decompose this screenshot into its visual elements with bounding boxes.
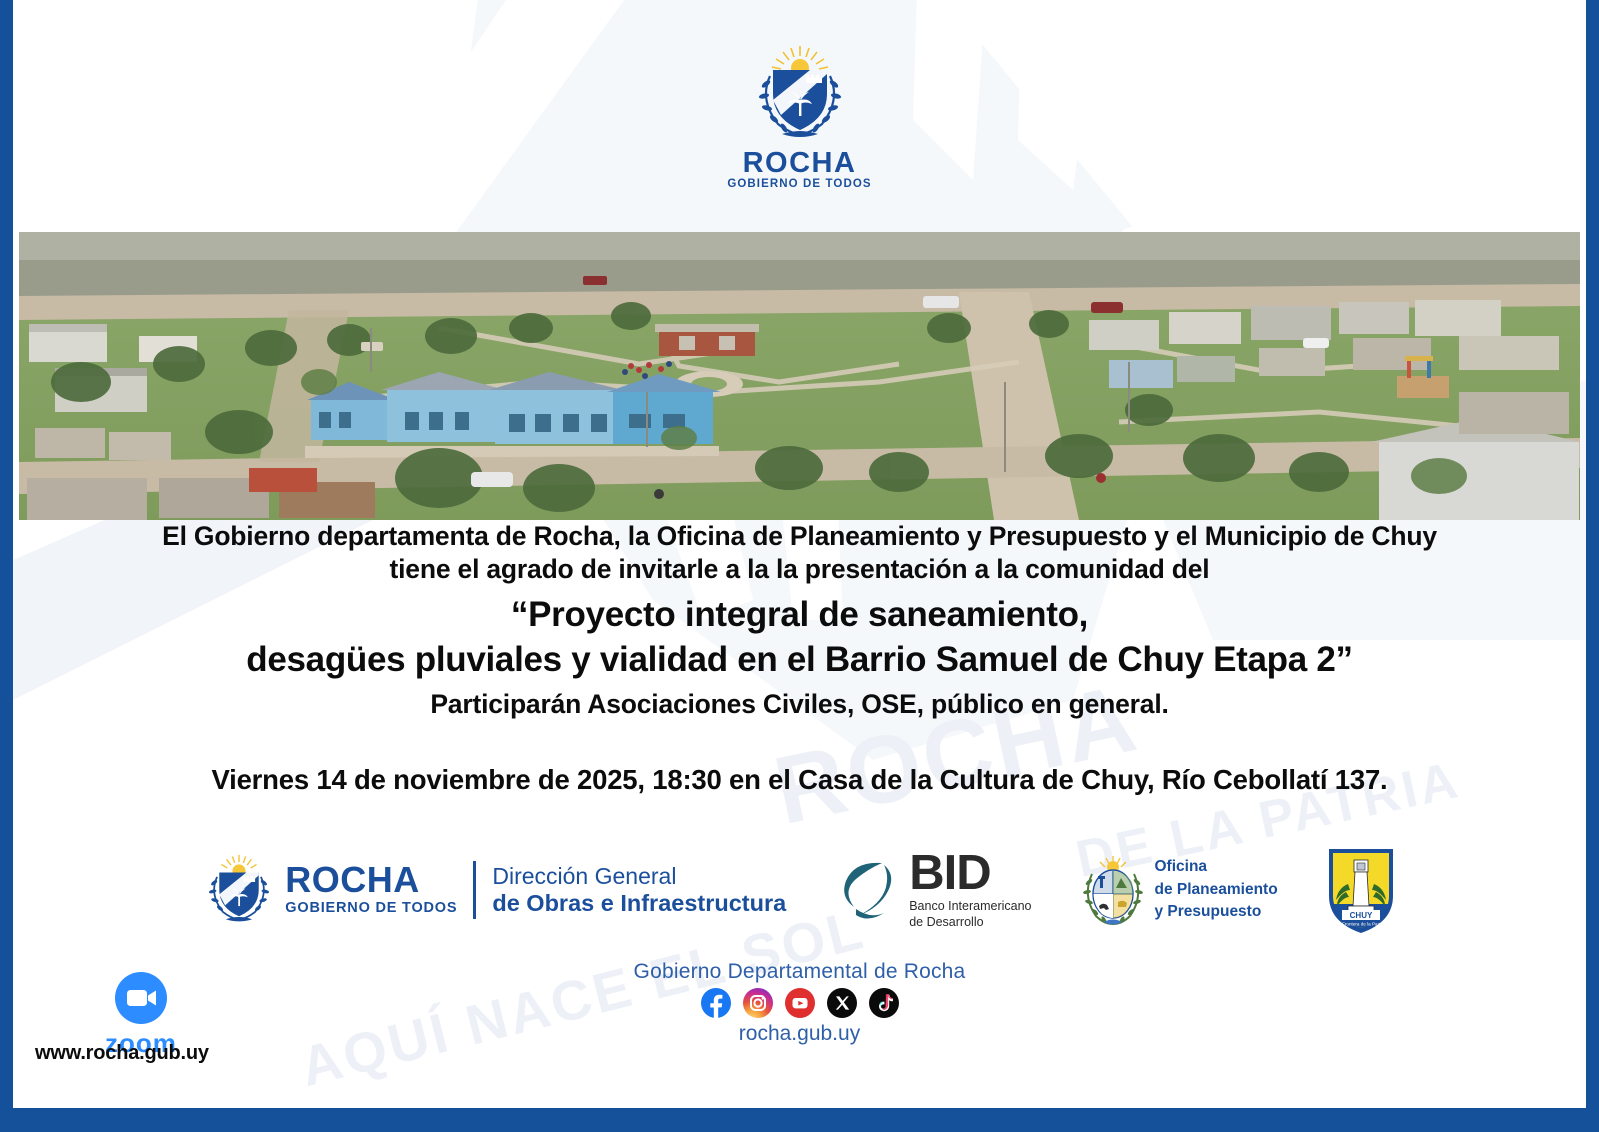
direccion-line-2: de Obras e Infraestructura <box>492 890 786 918</box>
footer-website-url[interactable]: rocha.gub.uy <box>13 1022 1586 1046</box>
direccion-general-wordmark: Dirección General de Obras e Infraestruc… <box>492 863 786 918</box>
chuy-shield-icon: CHUY Frontera de la Paz <box>1324 844 1398 936</box>
rocha-logo-name: ROCHA <box>285 862 457 898</box>
uruguay-coat-of-arms-icon <box>1080 854 1146 926</box>
youtube-icon[interactable] <box>785 988 815 1018</box>
invitation-line-1: El Gobierno departamenta de Rocha, la Of… <box>13 520 1586 553</box>
social-links-row <box>13 988 1586 1018</box>
site-url-text: www.rocha.gub.uy <box>35 1042 209 1065</box>
chuy-shield-motto: Frontera de la Paz <box>1342 922 1380 927</box>
event-datetime-location-line: Viernes 14 de noviembre de 2025, 18:30 e… <box>13 762 1586 798</box>
tiktok-icon[interactable] <box>869 988 899 1018</box>
logo-bid: BID Banco Interamericano de Desarrollo <box>838 850 1031 931</box>
bid-sub-line-2: de Desarrollo <box>909 915 1031 931</box>
rocha-coat-of-arms-icon <box>201 851 277 929</box>
bid-sub-line-1: Banco Interamericano <box>909 899 1031 915</box>
opp-line-1: Oficina <box>1155 856 1278 878</box>
logo-chuy: CHUY Frontera de la Paz <box>1324 844 1398 936</box>
project-title-line-2: desagües pluviales y vialidad en el Barr… <box>13 637 1586 682</box>
bid-swirl-icon <box>838 857 900 923</box>
invitation-line-2: tiene el agrado de invitarle a la la pre… <box>13 553 1586 586</box>
rocha-logo-tagline: GOBIERNO DE TODOS <box>285 898 457 918</box>
invitation-text-block: El Gobierno departamenta de Rocha, la Of… <box>13 520 1586 798</box>
bid-name: BID <box>909 850 1031 897</box>
logo-opp: Oficina de Planeamiento y Presupuesto <box>1080 854 1278 926</box>
project-title-line-1: “Proyecto integral de saneamiento, <box>13 592 1586 637</box>
opp-line-3: y Presupuesto <box>1155 901 1278 923</box>
rocha-logo-wordmark: ROCHA GOBIERNO DE TODOS <box>285 862 457 918</box>
rocha-coat-of-arms-icon <box>748 42 852 146</box>
poster-footer: Gobierno Departamental de Rocha <box>13 960 1586 1046</box>
opp-wordmark: Oficina de Planeamiento y Presupuesto <box>1155 856 1278 923</box>
poster-canvas: ROCHA DE LA PATRIA AQUÍ NACE EL SOL <box>13 0 1586 1108</box>
zoom-camera-icon <box>115 972 167 1024</box>
footer-title: Gobierno Departamental de Rocha <box>13 960 1586 984</box>
chuy-shield-name: CHUY <box>1349 911 1372 920</box>
bid-wordmark: BID Banco Interamericano de Desarrollo <box>909 850 1031 931</box>
header-rocha-logo: ROCHA GOBIERNO DE TODOS <box>727 42 871 190</box>
participants-line: Participarán Asociaciones Civiles, OSE, … <box>13 686 1586 722</box>
instagram-icon[interactable] <box>743 988 773 1018</box>
logo-divider <box>473 861 476 919</box>
opp-line-2: de Planeamiento <box>1155 879 1278 901</box>
partner-logo-strip: ROCHA GOBIERNO DE TODOS Dirección Genera… <box>13 836 1586 944</box>
header-brand-tagline: GOBIERNO DE TODOS <box>727 178 871 190</box>
invitation-poster: ROCHA DE LA PATRIA AQUÍ NACE EL SOL <box>0 0 1599 1132</box>
x-twitter-icon[interactable] <box>827 988 857 1018</box>
direccion-line-1: Dirección General <box>492 863 786 890</box>
poster-header: ROCHA GOBIERNO DE TODOS <box>13 0 1586 232</box>
aerial-photo-barrio-samuel-chuy <box>19 232 1580 520</box>
logo-rocha-direccion-general: ROCHA GOBIERNO DE TODOS Dirección Genera… <box>201 851 786 929</box>
header-brand-name: ROCHA <box>727 148 871 178</box>
facebook-icon[interactable] <box>701 988 731 1018</box>
